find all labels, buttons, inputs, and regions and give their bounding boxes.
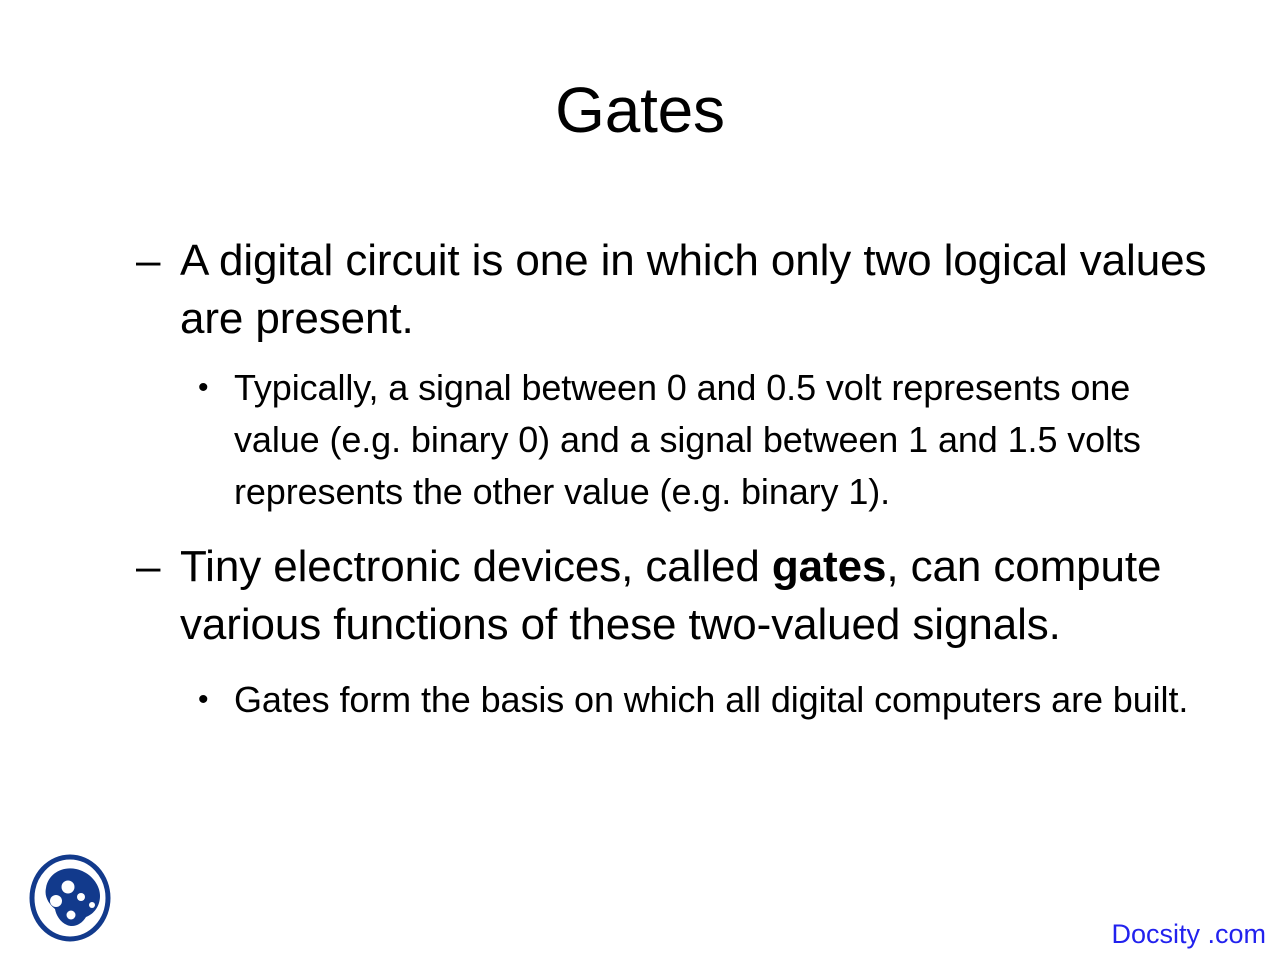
dash-bullet-icon: – <box>136 232 180 290</box>
spacer <box>136 350 1228 358</box>
list-item: • Gates form the basis on which all digi… <box>198 674 1220 726</box>
docsity-logo-icon <box>24 848 120 948</box>
list-item: – Tiny electronic devices, called gates,… <box>136 538 1228 654</box>
list-item-text-bold: gates <box>772 542 886 591</box>
round-bullet-icon: • <box>198 674 234 726</box>
list-item: – A digital circuit is one in which only… <box>136 232 1228 348</box>
list-item-label: Gates form the basis on which all digita… <box>234 674 1220 726</box>
slide-body: – A digital circuit is one in which only… <box>136 232 1228 732</box>
list-item-label: Typically, a signal between 0 and 0.5 vo… <box>234 362 1220 518</box>
page-title: Gates <box>0 76 1280 145</box>
spacer <box>136 524 1228 538</box>
dash-bullet-icon: – <box>136 538 180 596</box>
list-item-text-before: Tiny electronic devices, called <box>180 542 772 591</box>
list-item: • Typically, a signal between 0 and 0.5 … <box>198 362 1220 518</box>
round-bullet-icon: • <box>198 362 234 414</box>
slide-canvas: Gates – A digital circuit is one in whic… <box>0 0 1280 960</box>
spacer <box>136 656 1228 670</box>
docsity-brand-text: Docsity .com <box>1111 918 1266 950</box>
list-item-label: A digital circuit is one in which only t… <box>180 232 1228 348</box>
list-item-label: Tiny electronic devices, called gates, c… <box>180 538 1228 654</box>
